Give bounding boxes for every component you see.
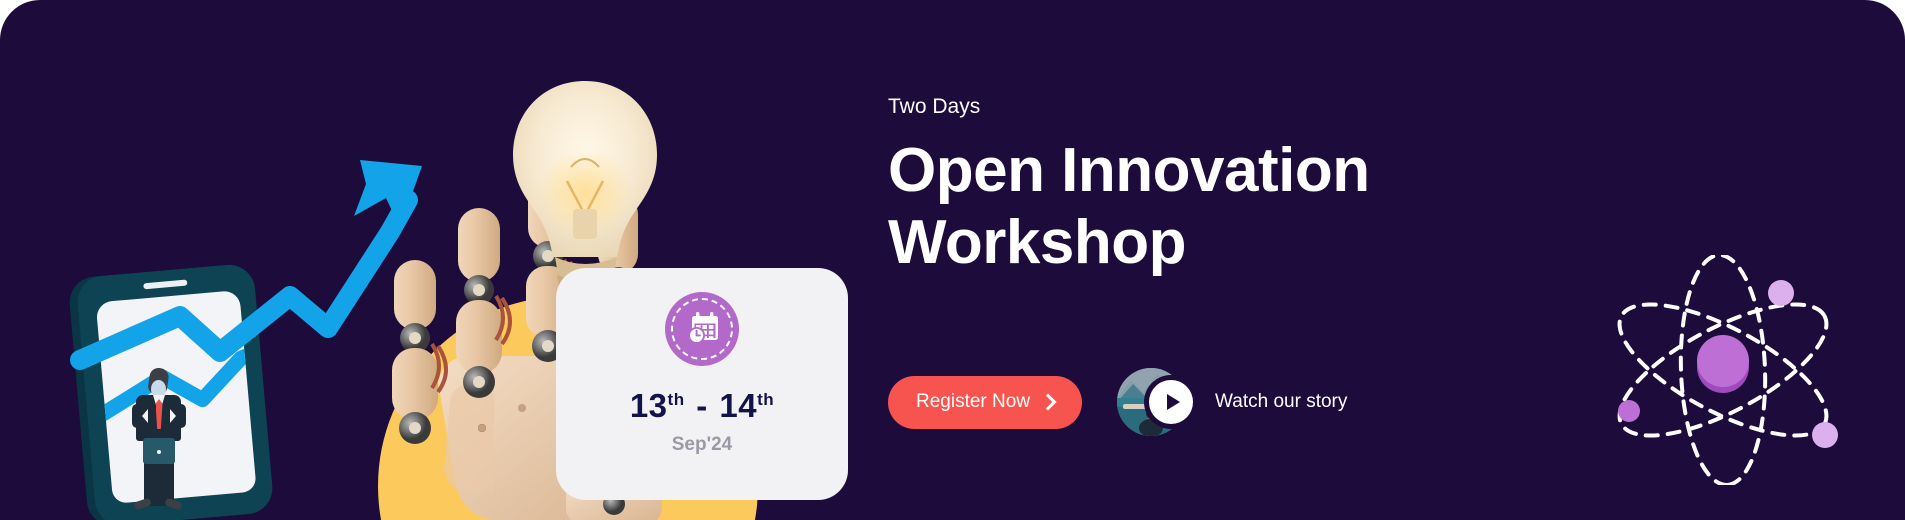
watch-story-label: Watch our story xyxy=(1215,391,1347,413)
chevron-right-icon xyxy=(1040,394,1057,411)
cta-row: Register Now xyxy=(888,368,1347,436)
calendar-clock-icon xyxy=(665,292,739,366)
event-date-card: 13th - 14th Sep'24 xyxy=(556,268,848,500)
day-start: 13 xyxy=(630,387,668,424)
play-icon xyxy=(1167,394,1180,410)
day-end-suffix: th xyxy=(757,390,774,409)
video-thumbnail-wrap[interactable] xyxy=(1117,368,1193,436)
page-title: Open Innovation Workshop xyxy=(888,135,1528,279)
atom-illustration xyxy=(1593,255,1853,485)
businessman-illustration xyxy=(128,368,190,520)
banner-content: Two Days Open Innovation Workshop Regist… xyxy=(888,0,1588,520)
event-banner: 13th - 14th Sep'24 Two Days Open Innovat… xyxy=(0,0,1905,520)
play-button[interactable] xyxy=(1149,380,1193,424)
day-start-suffix: th xyxy=(668,390,685,409)
date-separator: - xyxy=(694,387,710,424)
person-shoe-left xyxy=(133,498,152,511)
headline-line-2: Workshop xyxy=(888,208,1186,277)
register-now-button[interactable]: Register Now xyxy=(888,376,1082,429)
person-shoe-right xyxy=(164,498,183,511)
briefcase-latch xyxy=(157,450,161,454)
event-date-range: 13th - 14th xyxy=(630,389,774,422)
register-button-label: Register Now xyxy=(916,391,1030,413)
headline-line-1: Open Innovation xyxy=(888,136,1370,205)
watch-story-link[interactable]: Watch our story xyxy=(1117,368,1347,436)
day-end: 14 xyxy=(719,387,757,424)
event-month: Sep'24 xyxy=(672,434,733,456)
event-duration-label: Two Days xyxy=(888,95,980,119)
